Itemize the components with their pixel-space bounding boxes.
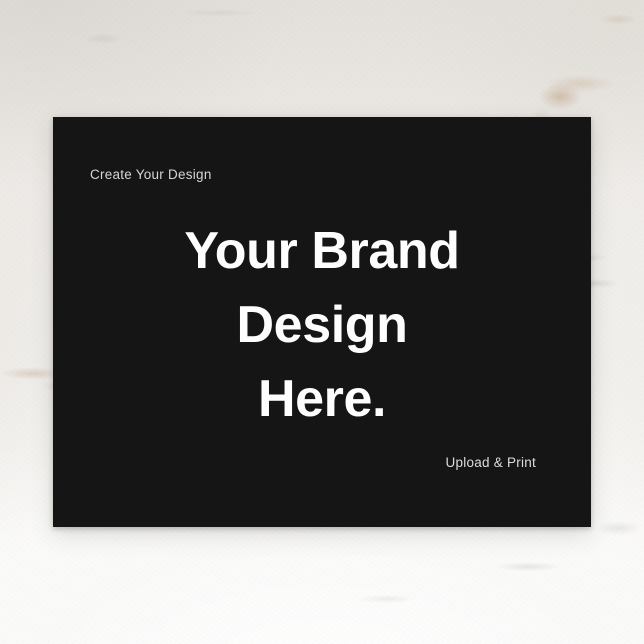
mockup-stage: Create Your Design Your Brand Design Her…	[0, 0, 644, 644]
headline-line-2: Design	[53, 289, 591, 363]
card-eyebrow-text: Create Your Design	[90, 168, 212, 182]
card-footnote-text: Upload & Print	[445, 456, 536, 470]
card-headline: Your Brand Design Here.	[53, 215, 591, 436]
postcard-card[interactable]: Create Your Design Your Brand Design Her…	[53, 117, 591, 527]
headline-line-1: Your Brand	[53, 215, 591, 289]
headline-line-3: Here.	[53, 363, 591, 437]
